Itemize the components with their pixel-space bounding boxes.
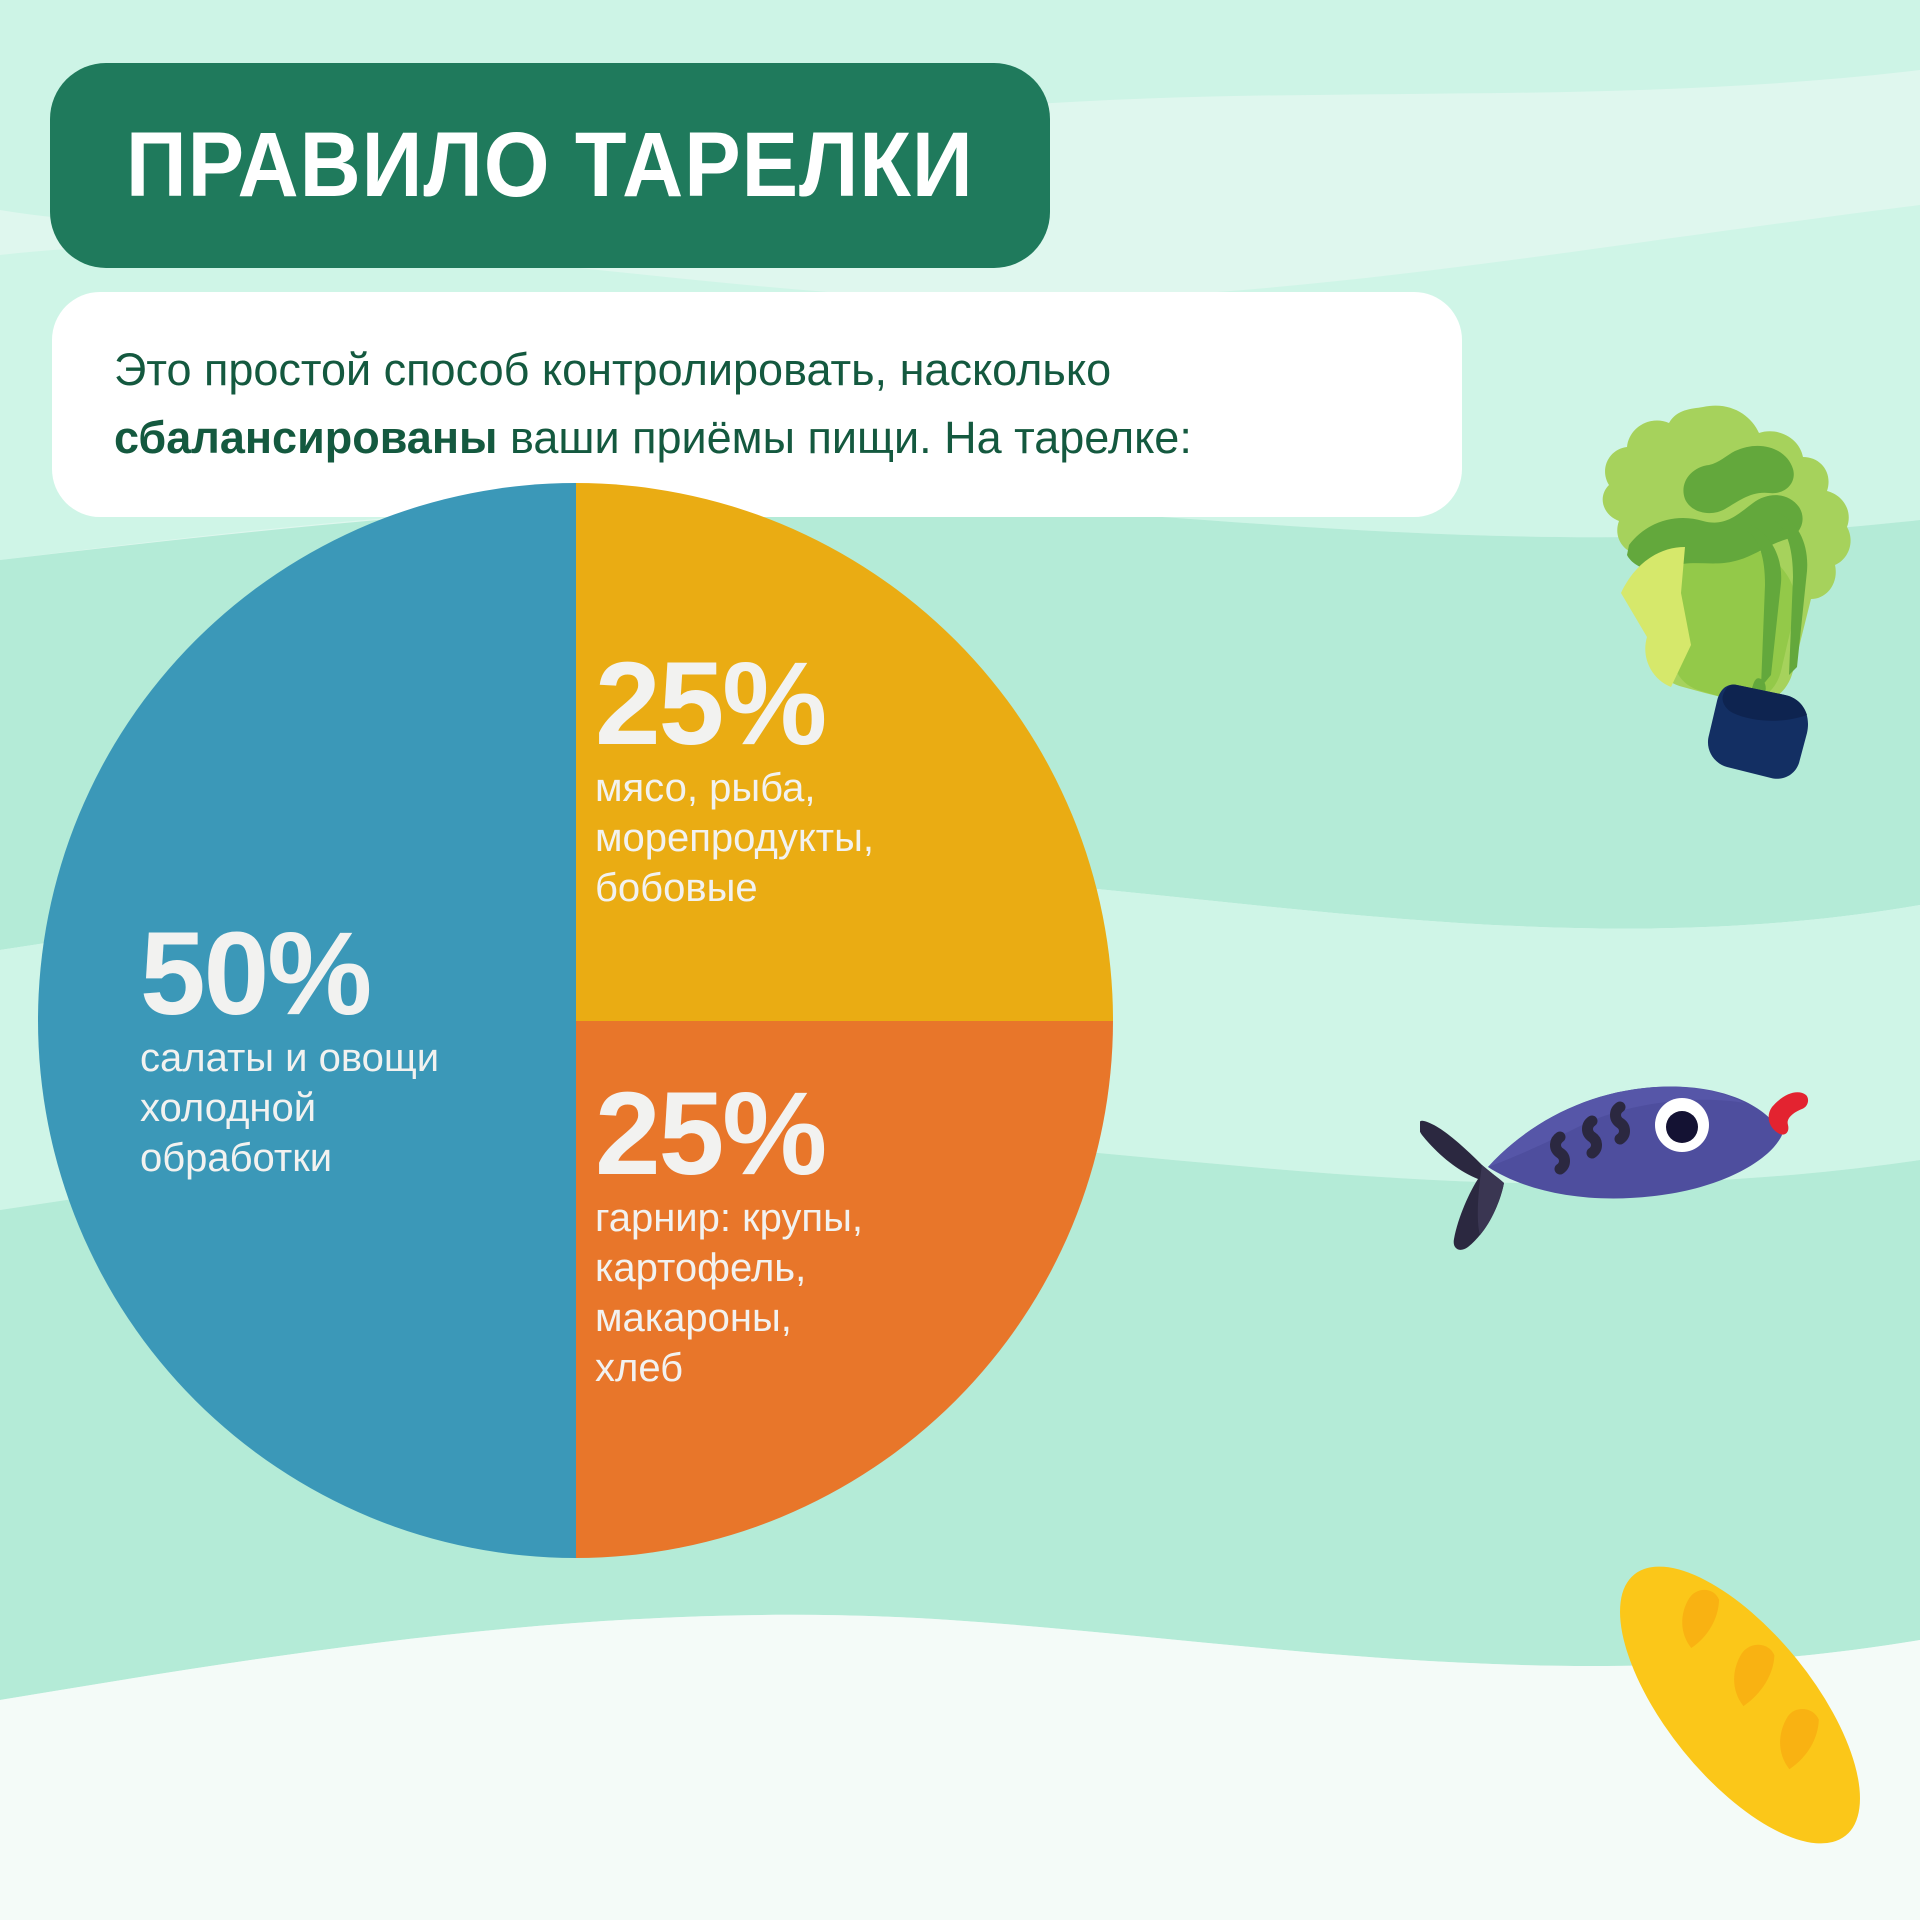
subtitle-emphasis: сбалансированы (114, 412, 497, 463)
subtitle-line-2-rest: ваши приёмы пищи. На тарелке: (497, 412, 1191, 463)
lettuce-illustration (1555, 395, 1855, 780)
pie-description-carbs: гарнир: крупы, картофель, макароны, хлеб (595, 1193, 863, 1393)
infographic-canvas: ПРАВИЛО ТАРЕЛКИ Это простой способ контр… (0, 0, 1920, 1920)
pie-label-carbs: 25% гарнир: крупы, картофель, макароны, … (595, 1075, 863, 1393)
subtitle-line-1: Это простой способ контролировать, наско… (114, 336, 1402, 404)
pie-description-protein: мясо, рыба, морепродукты, бобовые (595, 763, 874, 913)
page-title: ПРАВИЛО ТАРЕЛКИ (126, 113, 974, 218)
subtitle-line-2: сбалансированы ваши приёмы пищи. На таре… (114, 404, 1402, 472)
pie-label-protein: 25% мясо, рыба, морепродукты, бобовые (595, 645, 874, 913)
pie-percent-protein: 25% (595, 645, 874, 763)
fish-illustration (1420, 995, 1810, 1260)
pie-label-vegetables: 50% салаты и овощи холодной обработки (140, 915, 439, 1183)
pie-description-vegetables: салаты и овощи холодной обработки (140, 1033, 439, 1183)
pie-percent-carbs: 25% (595, 1075, 863, 1193)
bread-illustration (1555, 1535, 1920, 1875)
pie-percent-vegetables: 50% (140, 915, 439, 1033)
title-banner: ПРАВИЛО ТАРЕЛКИ (50, 63, 1050, 268)
